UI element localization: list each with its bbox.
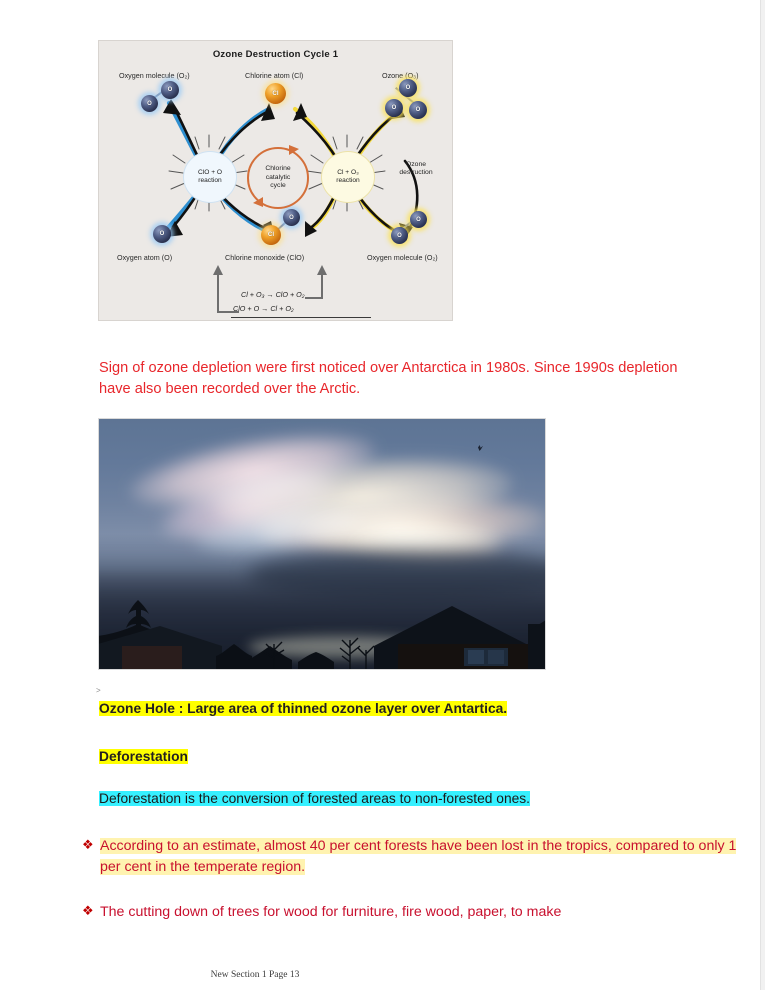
equation-net: Net: O + O₃ → 2O₂ bbox=[235, 319, 296, 321]
chlorine-atom-sphere: Cl bbox=[261, 225, 281, 245]
list-item: ❖ The cutting down of trees for wood for… bbox=[82, 902, 742, 923]
bullet-text: The cutting down of trees for wood for f… bbox=[100, 902, 561, 923]
label-chlorine-atom: Chlorine atom (Cl) bbox=[245, 71, 303, 80]
atom-glyph-o: O bbox=[399, 85, 417, 91]
photo-foreground-silhouette bbox=[98, 584, 546, 670]
onenote-page: Ozone Destruction Cycle 1 bbox=[0, 0, 765, 990]
oxygen-atom-sphere: O bbox=[141, 95, 158, 112]
label-oxygen-atom: Oxygen atom (O) bbox=[117, 253, 172, 262]
ozone-destruction-line1: Ozone bbox=[387, 161, 445, 169]
ozone-destruction-diagram[interactable]: Ozone Destruction Cycle 1 bbox=[98, 40, 453, 321]
catalytic-line1: Chlorine bbox=[265, 165, 290, 173]
page-footer: New Section 1 Page 13 bbox=[0, 970, 510, 980]
deforestation-heading-text: Deforestation bbox=[99, 749, 188, 764]
list-item: ❖ According to an estimate, almost 40 pe… bbox=[82, 836, 742, 879]
label-chlorine-monoxide: Chlorine monoxide (ClO) bbox=[225, 253, 304, 262]
atom-glyph-o: O bbox=[153, 231, 171, 237]
atom-glyph-o: O bbox=[161, 87, 179, 93]
eq-connector-right-horiz bbox=[305, 297, 323, 299]
oxygen-atom-sphere: O bbox=[410, 211, 427, 228]
deforestation-heading: Deforestation bbox=[99, 748, 188, 767]
list-caret-marker: > bbox=[96, 686, 101, 695]
node-chlorine-catalytic-cycle: Chlorine catalytic cycle bbox=[247, 147, 309, 209]
diamond-bullet-icon: ❖ bbox=[82, 902, 100, 920]
oxygen-atom-sphere: O bbox=[161, 81, 179, 99]
oxygen-atom-sphere: O bbox=[153, 225, 171, 243]
label-ozone: Ozone (O₃) bbox=[382, 71, 418, 80]
red-paragraph-ozone-depletion: Sign of ozone depletion were first notic… bbox=[99, 358, 709, 400]
atom-glyph-o: O bbox=[141, 101, 158, 107]
node-clo-o-reaction-line1: ClO + O bbox=[198, 169, 222, 177]
equation-2: ClO + O → Cl + O₂ bbox=[233, 304, 294, 314]
oxygen-atom-sphere: O bbox=[391, 227, 408, 244]
node-cl-o3-reaction-line2: reaction bbox=[336, 177, 359, 185]
eq-connector-right-vert bbox=[321, 269, 323, 299]
node-cl-o3-reaction-line1: Cl + O₃ bbox=[336, 169, 359, 177]
ozone-hole-text: Ozone Hole : Large area of thinned ozone… bbox=[99, 701, 507, 716]
atom-glyph-cl: Cl bbox=[261, 232, 281, 238]
oxygen-atom-sphere: O bbox=[399, 79, 417, 97]
node-clo-o-reaction: ClO + O reaction bbox=[183, 151, 237, 203]
catalytic-line3: cycle bbox=[265, 182, 290, 190]
node-cl-o3-reaction: Cl + O₃ reaction bbox=[321, 151, 375, 203]
atom-glyph-o: O bbox=[283, 215, 300, 221]
atom-glyph-o: O bbox=[409, 107, 427, 113]
atom-glyph-o: O bbox=[385, 105, 403, 111]
diamond-bullet-icon: ❖ bbox=[82, 836, 100, 854]
page-right-edge bbox=[760, 0, 765, 990]
catalytic-line2: catalytic bbox=[265, 174, 290, 182]
label-oxygen-molecule-bottom: Oxygen molecule (O₂) bbox=[367, 253, 438, 262]
chlorine-atom-sphere: Cl bbox=[265, 83, 286, 104]
label-oxygen-molecule-top: Oxygen molecule (O₂) bbox=[119, 71, 190, 80]
bullet-text: According to an estimate, almost 40 per … bbox=[100, 836, 742, 879]
diagram-canvas: Ozone Destruction Cycle 1 bbox=[99, 41, 452, 320]
deforestation-definition: Deforestation is the conversion of fores… bbox=[99, 790, 530, 809]
nacreous-cloud-photo[interactable] bbox=[98, 418, 546, 670]
eq-connector-left-vert bbox=[217, 269, 219, 313]
equation-1: Cl + O₃ → ClO + O₂ bbox=[241, 290, 305, 300]
deforestation-definition-text: Deforestation is the conversion of fores… bbox=[99, 791, 530, 806]
oxygen-atom-sphere: O bbox=[385, 99, 403, 117]
bullet-text-highlighted: According to an estimate, almost 40 per … bbox=[100, 838, 736, 875]
atom-glyph-o: O bbox=[410, 217, 427, 223]
atom-glyph-o: O bbox=[391, 233, 408, 239]
oxygen-atom-sphere: O bbox=[409, 101, 427, 119]
ozone-hole-definition: Ozone Hole : Large area of thinned ozone… bbox=[99, 700, 507, 719]
oxygen-atom-sphere: O bbox=[283, 209, 300, 226]
ozone-destruction-line2: destruction bbox=[387, 169, 445, 177]
atom-glyph-cl: Cl bbox=[265, 90, 286, 96]
node-ozone-destruction: Ozone destruction bbox=[387, 161, 445, 178]
node-clo-o-reaction-line2: reaction bbox=[198, 177, 222, 185]
